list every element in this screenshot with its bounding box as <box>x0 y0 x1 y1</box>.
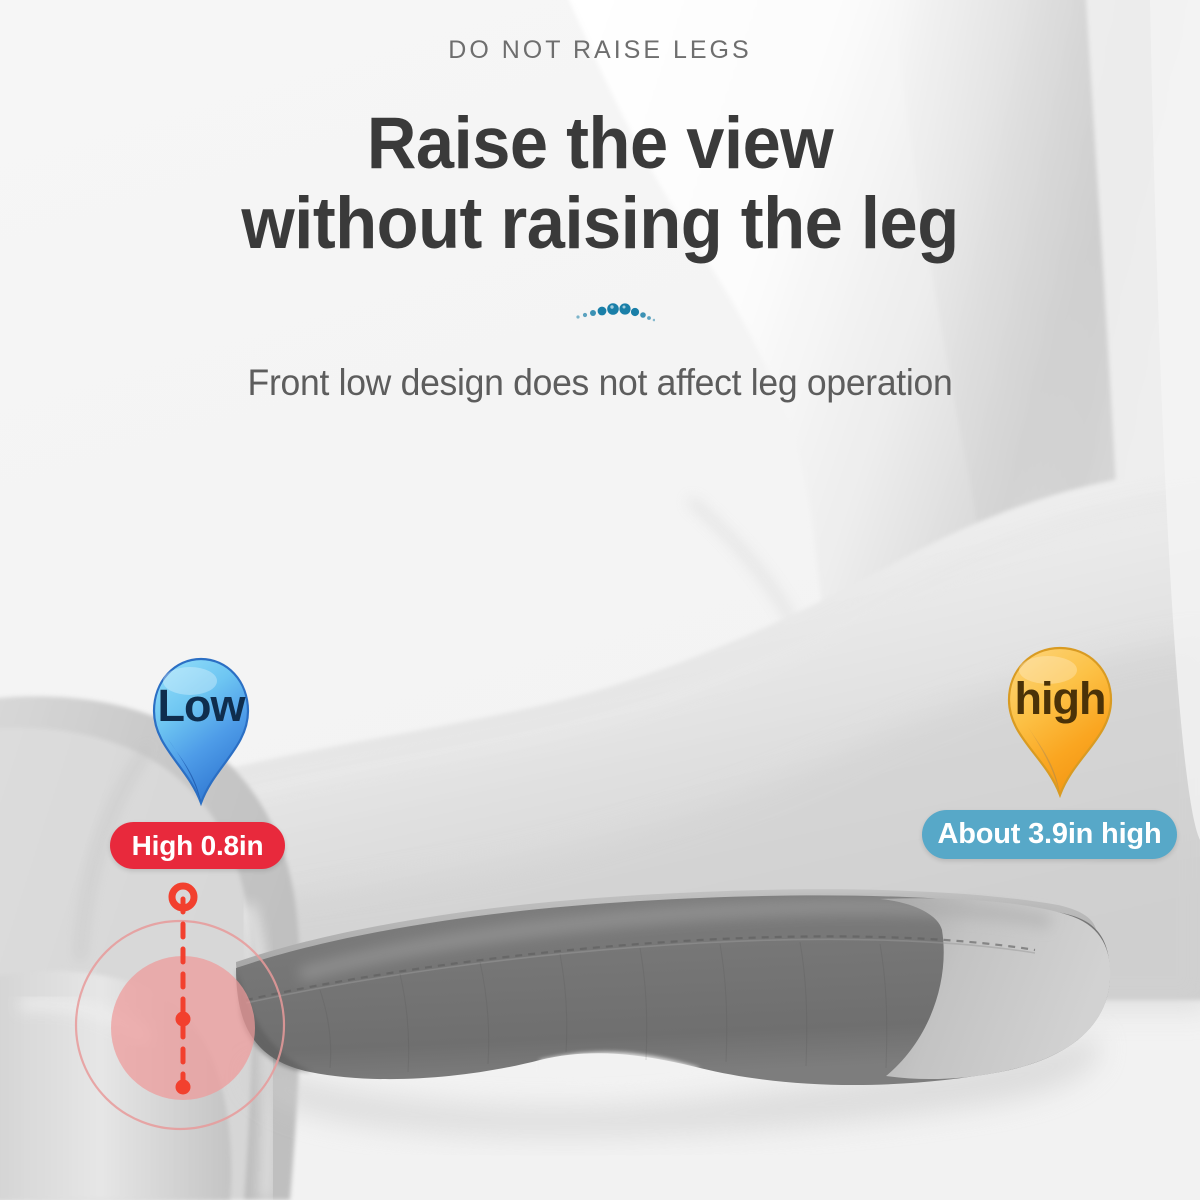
infographic-page: DO NOT RAISE LEGS Raise the view without… <box>0 0 1200 1200</box>
measurement-annotation <box>70 865 300 1165</box>
measure-node-dot <box>176 1012 191 1027</box>
subtitle-text: Front low design does not affect leg ope… <box>24 362 1176 404</box>
marker-pin-high[interactable]: high <box>1004 645 1116 797</box>
callout-rear-height[interactable]: About 3.9in high <box>922 810 1177 859</box>
callout-front-height[interactable]: High 0.8in <box>110 822 285 869</box>
headline-line-2: without raising the leg <box>36 184 1164 264</box>
page-title: Raise the view without raising the leg <box>36 104 1164 264</box>
headline-line-1: Raise the view <box>367 103 833 184</box>
kicker-text: DO NOT RAISE LEGS <box>0 36 1200 65</box>
measure-node-dot <box>176 1080 191 1095</box>
dot-cluster-icon <box>575 297 655 327</box>
marker-pin-low[interactable]: Low <box>148 655 254 805</box>
